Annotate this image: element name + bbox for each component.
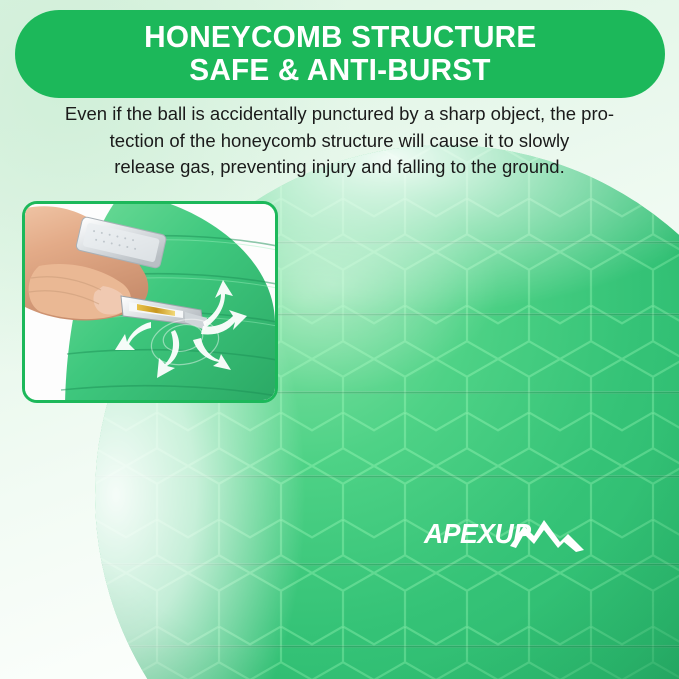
- product-infographic: HONEYCOMB STRUCTURE SAFE & ANTI-BURST Ev…: [0, 0, 679, 679]
- description-line-3: release gas, preventing injury and falli…: [26, 154, 653, 181]
- brand-logo: APEXUP: [424, 512, 606, 560]
- puncture-demo-inset: [22, 201, 278, 403]
- brand-name: APEXUP: [424, 518, 531, 550]
- banner-title-line-1: HONEYCOMB STRUCTURE: [144, 21, 536, 54]
- description-line-1: Even if the ball is accidentally punctur…: [26, 101, 653, 128]
- description-text: Even if the ball is accidentally punctur…: [26, 101, 653, 181]
- header-banner: HONEYCOMB STRUCTURE SAFE & ANTI-BURST: [15, 10, 665, 98]
- banner-title-line-2: SAFE & ANTI-BURST: [189, 54, 490, 87]
- inset-photo-image: [25, 204, 275, 400]
- description-line-2: tection of the honeycomb structure will …: [26, 128, 653, 155]
